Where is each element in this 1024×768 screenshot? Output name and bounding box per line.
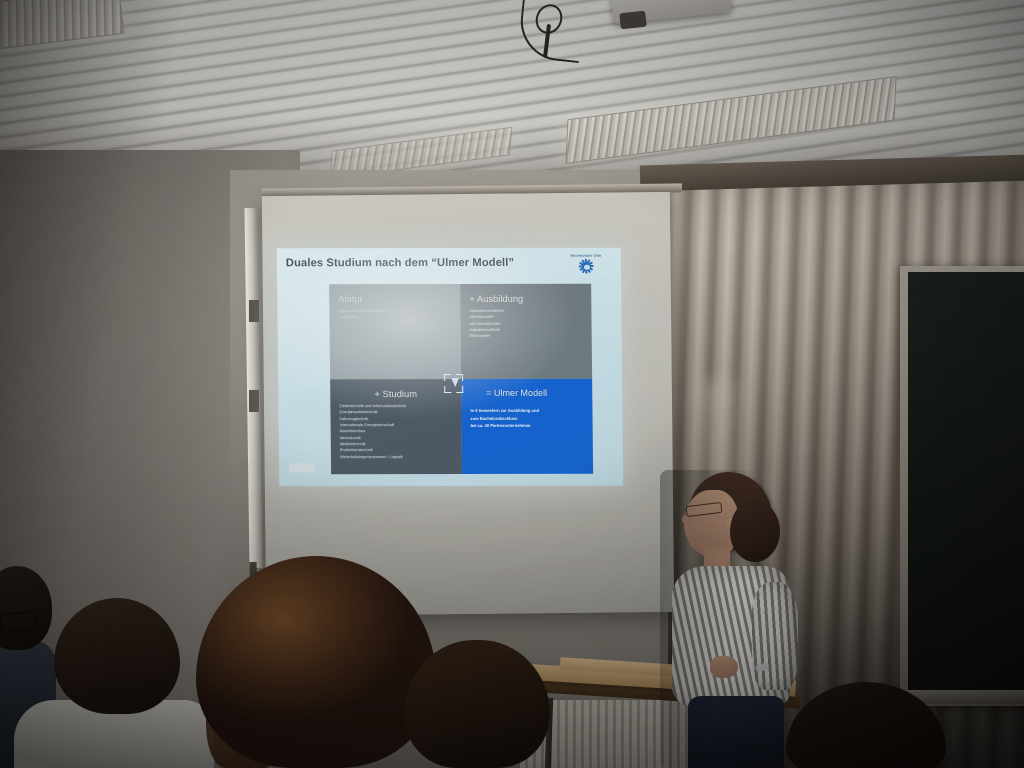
quadrant-list: Industriemechaniker Mechatroniker Kfz-Me… [469,308,582,340]
hochschule-ulm-logo: Hochschule Ulm [560,254,612,274]
quadrant-body: In 9 Semestern zur Ausbildung und zum Ba… [470,407,583,430]
quadrant-heading: = Ulmer Modell [486,388,583,398]
slide-quadrant-abitur: Abitur Allgemeine Hochschulreife Fachabi… [329,284,461,379]
list-item: Elektroniker [470,333,583,340]
sunburst-icon [578,259,593,274]
slide-quadrant-ausbildung: + Ausbildung Industriemechaniker Mechatr… [460,284,592,379]
lecture-room-photo: Duales Studium nach dem “Ulmer Modell” H… [0,0,1024,768]
projector-lens-icon [619,11,647,30]
logo-core [583,263,591,271]
quadrant-heading: + Studium [339,388,452,399]
screen-clip [249,390,259,412]
list-item: Wirtschaftsingenieurwesen / Logistik [340,454,453,461]
presenter-hair-back [730,500,780,562]
presenter-trousers [688,696,784,768]
chalkboard [908,272,1024,697]
quadrant-list: Elektrotechnik und Informationstechnik E… [339,403,453,460]
slide-footer-box [289,463,315,472]
presenter-hand [710,656,738,678]
presenter-arm [752,582,798,690]
quadrant-heading: + Ausbildung [469,293,582,304]
screen-clip [249,300,259,322]
slide-quadrant-ulmer-modell: = Ulmer Modell In 9 Semestern zur Ausbil… [461,379,593,474]
slide-quadrant-studium: + Studium Elektrotechnik und Information… [330,379,462,474]
projected-slide: Duales Studium nach dem “Ulmer Modell” H… [277,248,624,487]
screen-capture-cursor-icon [444,374,463,393]
logo-wordmark: Hochschule Ulm [560,254,612,258]
slide-title: Duales Studium nach dem “Ulmer Modell” [286,257,514,269]
glasses-icon [0,610,39,633]
quadrant-subtitle: Allgemeine Hochschulreife Fachabitur [338,308,451,320]
quadrant-heading: Abitur [338,293,451,304]
